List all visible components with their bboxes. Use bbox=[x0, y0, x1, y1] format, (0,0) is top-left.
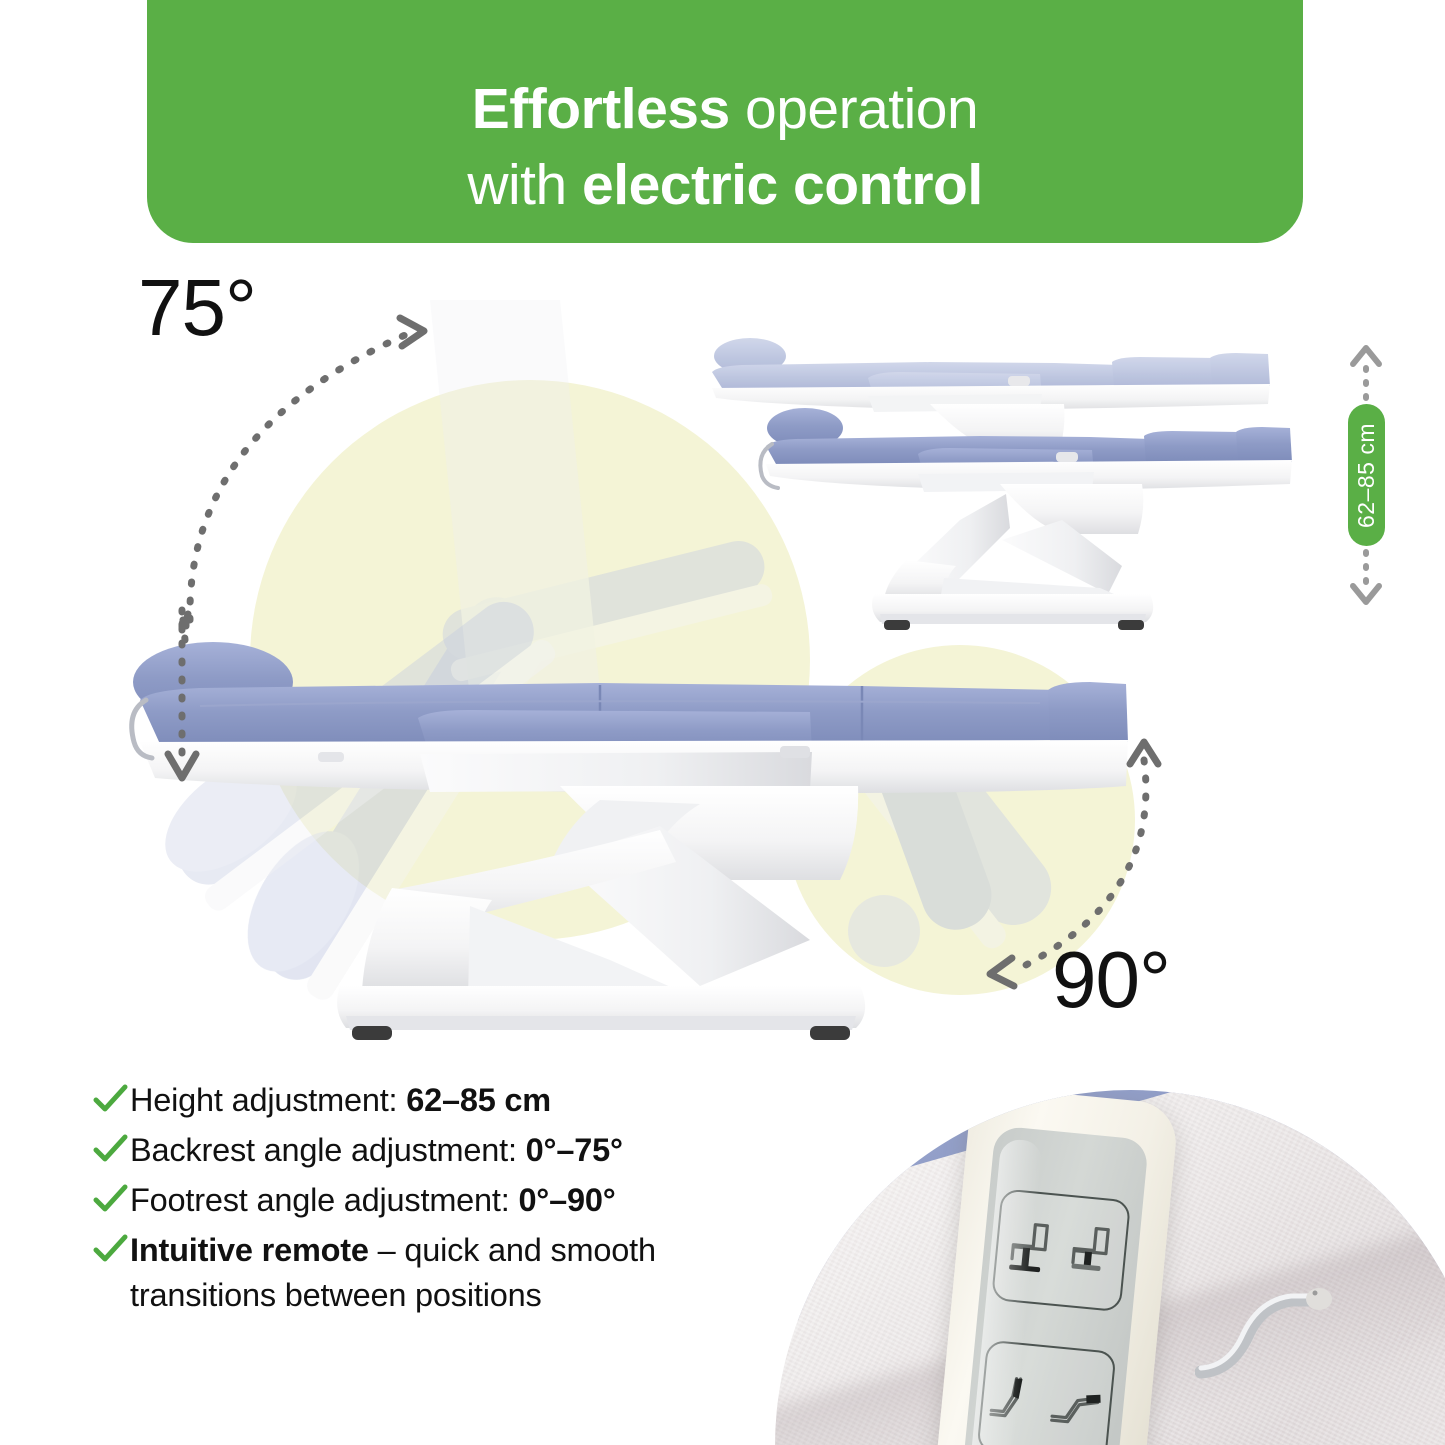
button-group-backrest[interactable] bbox=[976, 1340, 1116, 1445]
backrest-up-icon bbox=[981, 1366, 1048, 1432]
check-icon bbox=[92, 1084, 130, 1124]
feature-text: Height adjustment: 62–85 cm bbox=[130, 1078, 551, 1123]
chair-lower-icon bbox=[1058, 1217, 1126, 1289]
check-icon bbox=[92, 1234, 130, 1274]
feature-text: Backrest angle adjustment: 0°–75° bbox=[130, 1128, 623, 1173]
check-icon bbox=[92, 1184, 130, 1224]
chair-height-low bbox=[760, 408, 1292, 630]
backrest-angle-label: 75° bbox=[138, 268, 256, 348]
list-item: Footrest angle adjustment: 0°–90° bbox=[92, 1178, 792, 1224]
height-range-badge-label: 62–85 cm bbox=[1353, 422, 1380, 527]
check-icon bbox=[92, 1134, 130, 1174]
height-raise-button[interactable] bbox=[993, 1190, 1066, 1304]
list-item: Height adjustment: 62–85 cm bbox=[92, 1078, 792, 1124]
feature-value: 62–85 cm bbox=[406, 1082, 551, 1118]
chrome-hook-icon bbox=[1195, 1274, 1335, 1384]
feature-text: Footrest angle adjustment: 0°–90° bbox=[130, 1178, 616, 1223]
backrest-up-button[interactable] bbox=[979, 1342, 1052, 1445]
feature-text: Intuitive remote – quick and smooth tran… bbox=[130, 1228, 792, 1318]
infographic-page: Effortless operation with electric contr… bbox=[0, 0, 1445, 1445]
feature-value: Intuitive remote bbox=[130, 1232, 369, 1268]
button-group-height[interactable] bbox=[991, 1188, 1131, 1312]
feature-value: 0°–75° bbox=[526, 1132, 623, 1168]
height-lower-button[interactable] bbox=[1056, 1197, 1129, 1311]
backrest-down-icon bbox=[1044, 1372, 1111, 1438]
feature-label: Footrest angle adjustment: bbox=[130, 1182, 518, 1218]
feature-label: Backrest angle adjustment: bbox=[130, 1132, 526, 1168]
height-range-badge: 62–85 cm bbox=[1348, 404, 1385, 546]
remote-photo-scene bbox=[775, 1090, 1445, 1445]
list-item: Intuitive remote – quick and smooth tran… bbox=[92, 1228, 792, 1318]
feature-label: Height adjustment: bbox=[130, 1082, 406, 1118]
footrest-angle-label: 90° bbox=[1052, 940, 1170, 1020]
remote-control-photo bbox=[775, 1090, 1445, 1445]
chair-raise-icon bbox=[996, 1211, 1064, 1283]
feature-value: 0°–90° bbox=[518, 1182, 615, 1218]
list-item: Backrest angle adjustment: 0°–75° bbox=[92, 1128, 792, 1174]
feature-list: Height adjustment: 62–85 cm Backrest ang… bbox=[92, 1078, 792, 1322]
backrest-down-button[interactable] bbox=[1041, 1348, 1114, 1445]
